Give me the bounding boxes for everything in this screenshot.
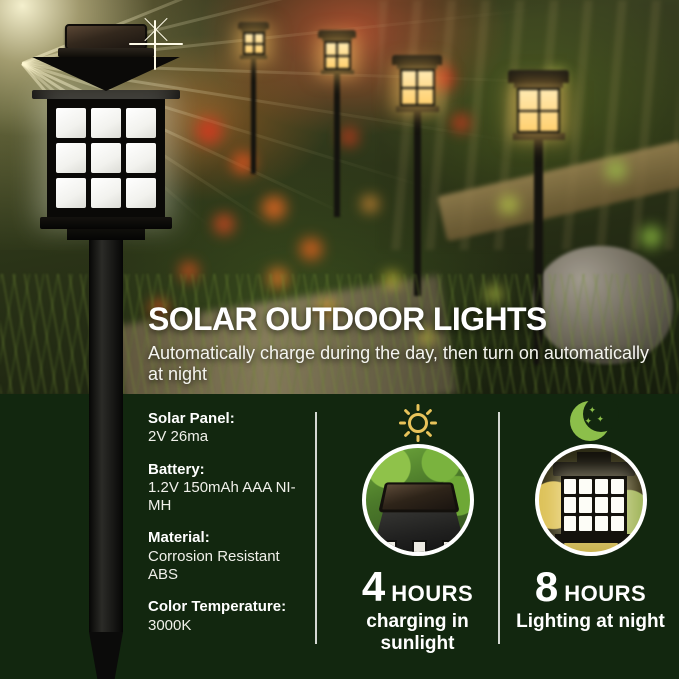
stat-caption: charging in sunlight	[330, 611, 505, 654]
lamp-pane	[579, 479, 592, 494]
sun-ray	[430, 422, 437, 425]
sun-icon	[399, 404, 437, 442]
lamp-pane	[126, 143, 156, 173]
lamp-pane	[56, 108, 86, 138]
closeup-lantern-roof	[553, 462, 635, 476]
stat-number-row: 8 HOURS	[503, 566, 678, 608]
sun-ray	[425, 430, 432, 437]
background-lantern	[238, 22, 269, 174]
product-marketing-poster: SOLAR OUTDOOR LIGHTS Automatically charg…	[0, 0, 679, 679]
lamp-pane	[595, 516, 608, 531]
lamp-pane	[91, 178, 121, 208]
hero-pagoda-roof	[32, 57, 180, 91]
page-subtitle: Automatically charge during the day, the…	[148, 343, 668, 386]
stat-unit: HOURS	[391, 583, 473, 605]
lamp-pane	[595, 479, 608, 494]
background-lantern	[392, 55, 442, 296]
stat-number: 4	[362, 566, 384, 608]
lantern-roof	[318, 30, 356, 38]
lamp-pane	[126, 108, 156, 138]
stat-number: 8	[535, 566, 557, 608]
sun-ray	[425, 409, 432, 416]
hero-collar	[40, 217, 172, 229]
lantern-roof	[238, 22, 269, 29]
flower-blossom	[262, 196, 286, 220]
lamp-pane	[595, 497, 608, 512]
lantern-body	[324, 41, 351, 70]
lamp-pane	[579, 497, 592, 512]
flower-blossom	[452, 114, 470, 132]
sun-ray	[403, 409, 410, 416]
lamp-pane	[611, 479, 624, 494]
hero-light-cage	[47, 99, 165, 217]
lantern-roof	[508, 70, 569, 83]
lantern-body	[243, 32, 265, 55]
closeup-lamp-window	[382, 540, 397, 554]
hero-foot	[67, 229, 145, 240]
headline-block: SOLAR OUTDOOR LIGHTS Automatically charg…	[148, 303, 668, 386]
solar-panel-closeup-photo	[362, 444, 474, 556]
flower-blossom	[300, 238, 322, 260]
lamp-pane	[564, 479, 577, 494]
sun-ray	[416, 435, 419, 442]
page-title: SOLAR OUTDOOR LIGHTS	[148, 303, 668, 336]
hero-solar-panel	[65, 24, 147, 50]
sun-ray	[399, 422, 406, 425]
stat-unit: HOURS	[564, 583, 646, 605]
lantern-body	[517, 88, 560, 133]
lamp-pane	[564, 497, 577, 512]
hero-ground-stake	[89, 632, 123, 679]
sun-disc	[408, 413, 428, 433]
star-icon: ✦	[597, 415, 605, 424]
sun-ray	[403, 430, 410, 437]
lantern-pole	[414, 112, 421, 296]
lantern-body	[400, 69, 435, 106]
lamp-pane	[56, 178, 86, 208]
lit-lantern-closeup-photo	[535, 444, 647, 556]
lantern-base	[513, 133, 565, 140]
sun-icon-wrap	[330, 400, 505, 442]
hero-roof-lip	[32, 90, 180, 99]
lamp-pane	[126, 178, 156, 208]
moon-stars-icon: ✦ ✦ ✦	[569, 400, 613, 442]
lamp-pane	[91, 143, 121, 173]
closeup-lantern-base	[555, 534, 633, 543]
lamp-pane	[611, 497, 624, 512]
lamp-pane	[579, 516, 592, 531]
closeup-solar-cell	[378, 482, 459, 512]
lamp-pane	[56, 143, 86, 173]
stat-caption: Lighting at night	[503, 611, 678, 633]
stat-number-row: 4 HOURS	[330, 566, 505, 608]
hero-pole	[89, 240, 123, 632]
moon-icon-wrap: ✦ ✦ ✦	[503, 400, 678, 442]
lamp-pane	[564, 516, 577, 531]
sun-ray	[416, 404, 419, 411]
closeup-lamp-window	[442, 540, 457, 554]
star-icon: ✦	[585, 417, 593, 426]
lantern-roof	[392, 55, 442, 65]
lantern-pole	[251, 59, 256, 174]
lamp-pane	[91, 108, 121, 138]
flower-blossom	[362, 196, 378, 212]
lamp-pane	[611, 516, 624, 531]
stat-charging: 4 HOURS charging in sunlight	[330, 400, 505, 654]
star-icon: ✦	[589, 406, 597, 415]
closeup-lamp-window	[412, 540, 427, 554]
hero-panel-base	[58, 48, 154, 57]
divider-left	[315, 412, 317, 644]
background-lantern	[318, 30, 356, 217]
flower-blossom	[606, 160, 626, 180]
closeup-lantern-cage	[561, 476, 627, 534]
flower-blossom	[196, 118, 222, 144]
lantern-pole	[334, 74, 340, 217]
flower-blossom	[640, 226, 662, 248]
flower-blossom	[214, 214, 234, 234]
stat-lighting: ✦ ✦ ✦ 8 HOURS	[503, 400, 678, 633]
